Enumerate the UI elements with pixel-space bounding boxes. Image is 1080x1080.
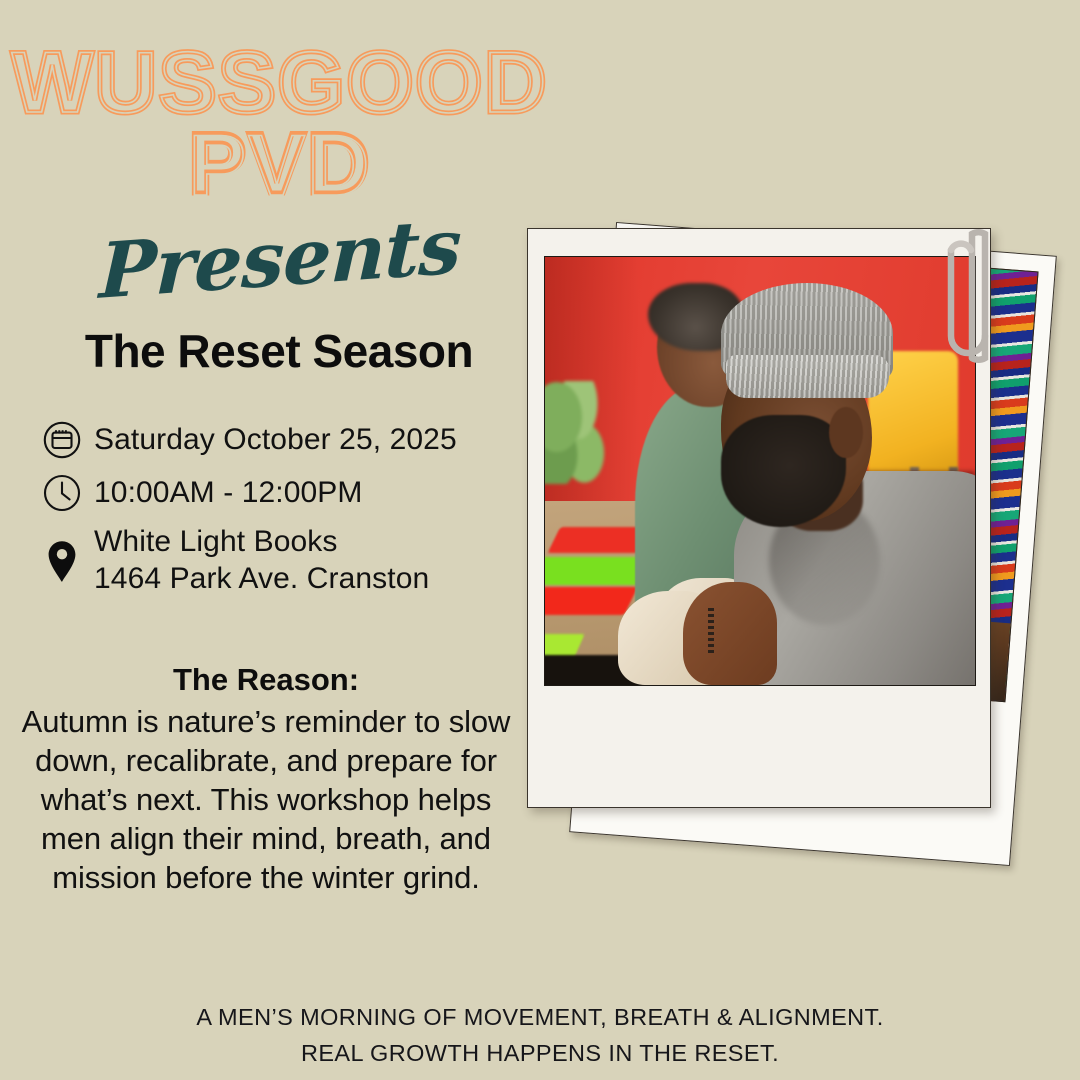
- forearm-tattoo: [708, 608, 713, 655]
- reason-section: The Reason: Autumn is nature’s reminder …: [14, 662, 518, 897]
- foreground-person-ear: [829, 407, 863, 458]
- polaroid-front-photo: [544, 256, 976, 686]
- poster-canvas: WUSSGOOD WUSSGOOD PVD PVD Presents The R…: [0, 0, 1080, 1080]
- logo-line-2-wrap: PVD PVD: [0, 125, 560, 204]
- plant-icon: [545, 381, 605, 484]
- detail-row-time: 10:00AM - 12:00PM: [40, 471, 510, 515]
- footer-tagline: A MEN’S MORNING OF MOVEMENT, BREATH & AL…: [0, 1000, 1080, 1071]
- footer-line-2: REAL GROWTH HAPPENS IN THE RESET.: [0, 1036, 1080, 1072]
- detail-row-date: Saturday October 25, 2025: [40, 418, 510, 462]
- footer-line-1: A MEN’S MORNING OF MOVEMENT, BREATH & AL…: [0, 1000, 1080, 1036]
- detail-row-venue: White Light Books 1464 Park Ave. Cransto…: [40, 524, 510, 597]
- event-details: Saturday October 25, 2025 10:00AM - 12:0…: [40, 418, 510, 606]
- brand-logo: WUSSGOOD WUSSGOOD PVD PVD: [0, 44, 560, 204]
- venue-name: White Light Books: [94, 525, 338, 558]
- location-pin-icon: [40, 540, 84, 584]
- meditation-scene: [545, 257, 975, 685]
- reason-body: Autumn is nature’s reminder to slow down…: [14, 702, 518, 897]
- clock-icon: [40, 471, 84, 515]
- venue-address: 1464 Park Ave. Cranston: [94, 562, 429, 595]
- beanie-cuff: [726, 355, 889, 398]
- calendar-icon: [40, 418, 84, 462]
- logo-line-2: PVD: [0, 125, 560, 204]
- event-time: 10:00AM - 12:00PM: [84, 475, 363, 512]
- logo-line-1: WUSSGOOD: [0, 44, 560, 123]
- foreground-person-arm: [683, 582, 778, 685]
- logo-line-1-wrap: WUSSGOOD WUSSGOOD: [0, 44, 560, 123]
- page-title: The Reset Season: [0, 324, 558, 378]
- paperclip-icon: [938, 208, 998, 373]
- presents-script: Presents: [0, 194, 561, 322]
- polaroid-photo-stack: [500, 200, 1080, 890]
- yoga-mat-red-2: [545, 587, 638, 615]
- event-venue: White Light Books 1464 Park Ave. Cransto…: [84, 524, 429, 597]
- beanie-cuff-ribbing: [726, 355, 889, 398]
- reason-heading: The Reason:: [14, 662, 518, 698]
- event-date: Saturday October 25, 2025: [84, 422, 457, 459]
- polaroid-photo-front: [527, 228, 991, 808]
